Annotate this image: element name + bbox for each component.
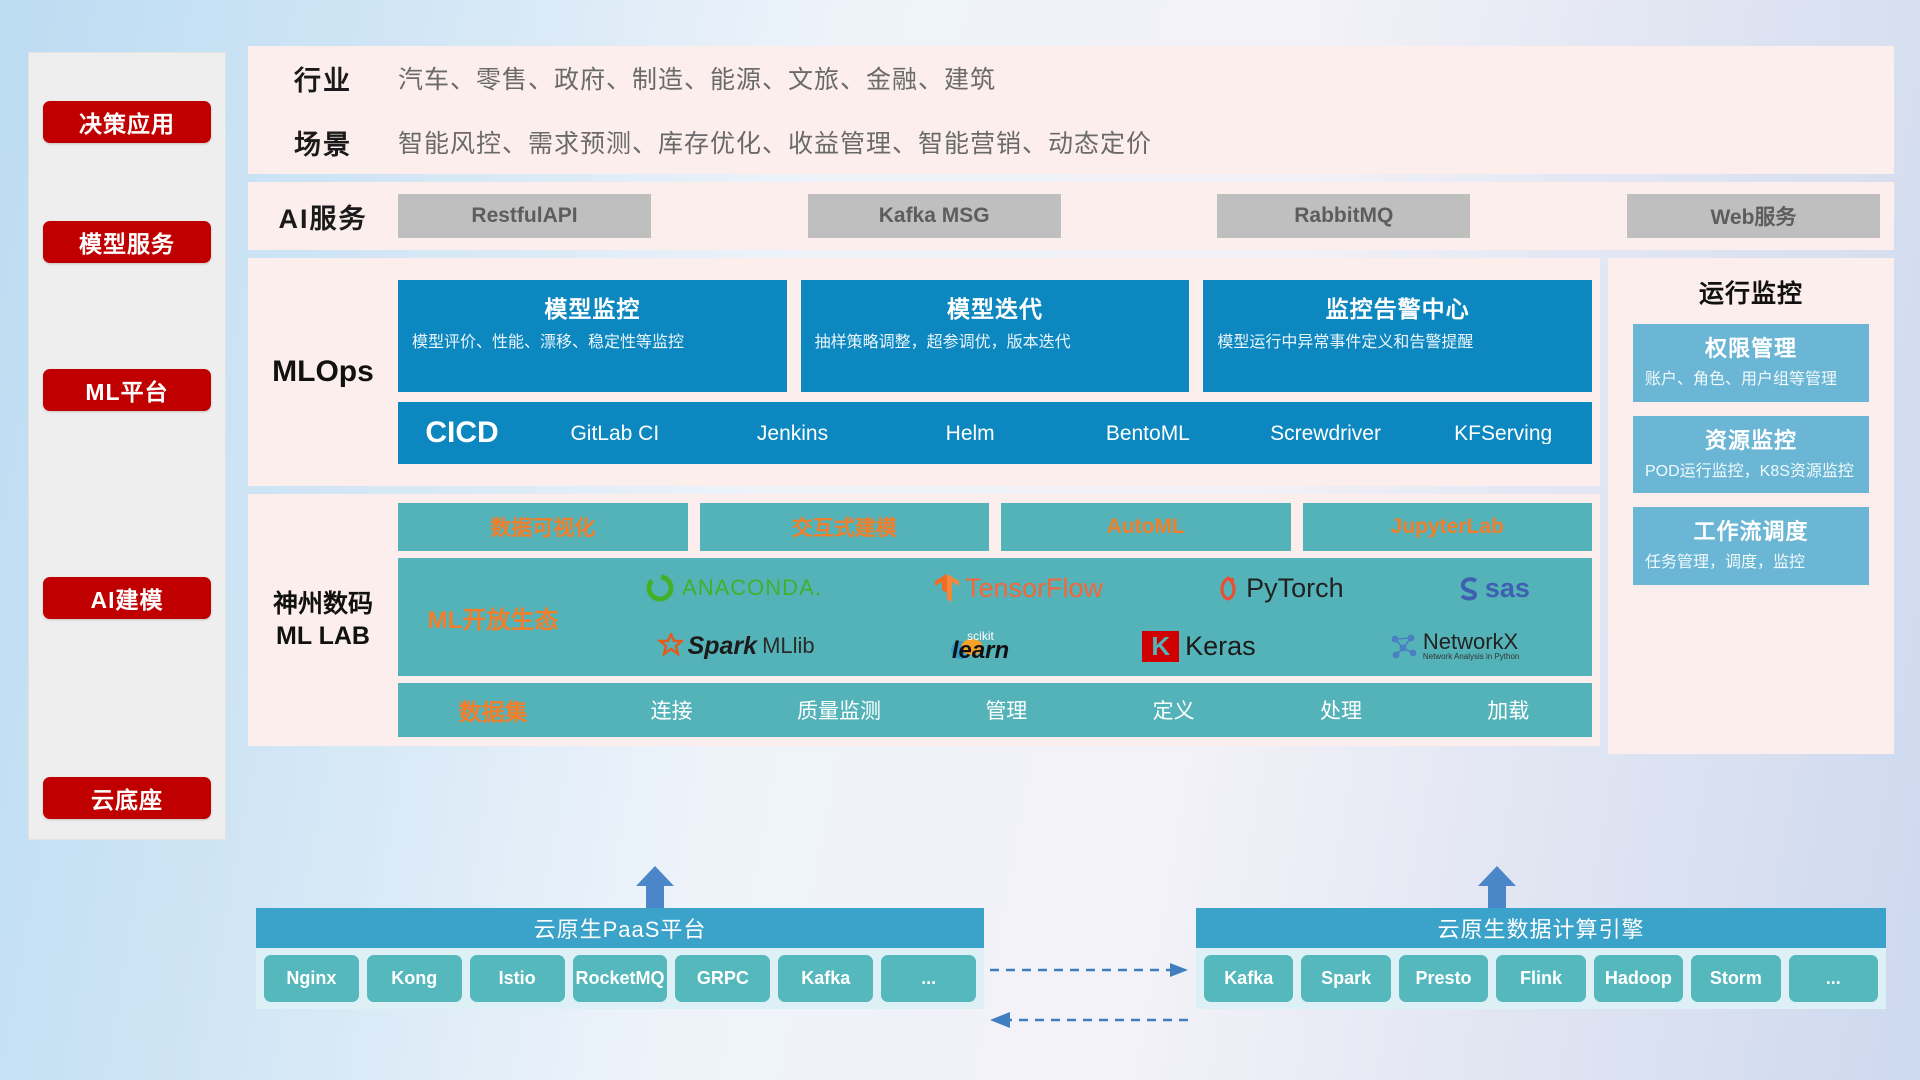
- networkx-tagline: Network Analysis in Python: [1423, 653, 1520, 661]
- paas-chip-istio[interactable]: Istio: [470, 955, 565, 1002]
- card-title: 监控告警中心: [1217, 290, 1578, 324]
- pytorch-wordmark: PyTorch: [1246, 573, 1344, 604]
- logo-row-2: Spark MLlib scikit learn: [588, 618, 1586, 674]
- engine-chip-presto[interactable]: Presto: [1399, 955, 1488, 1002]
- platform-column: MLOps 模型监控 模型评价、性能、漂移、稳定性等监控 模型迭代 抽样策略调整…: [248, 258, 1600, 754]
- scenario-key-industry: 行业: [248, 59, 398, 98]
- modeling-band: 神州数码 ML LAB 数据可视化 交互式建模 AutoML JupyterLa…: [248, 494, 1600, 746]
- cicd-label: KFServing: [1454, 423, 1552, 444]
- cicd-label: Screwdriver: [1270, 423, 1381, 444]
- main-stack: 行业 汽车、零售、政府、制造、能源、文旅、金融、建筑 场景 智能风控、需求预测、…: [248, 46, 1894, 754]
- dataset-item-define[interactable]: 定义: [1090, 695, 1257, 725]
- networkx-wordmark: NetworkX: [1423, 631, 1520, 653]
- chip-label: GRPC: [697, 969, 749, 988]
- dataset-item-connect[interactable]: 连接: [588, 695, 755, 725]
- mllib-wordmark: MLlib: [762, 633, 815, 659]
- paas-chip-more[interactable]: ...: [881, 955, 976, 1002]
- tool-label: 数据可视化: [490, 512, 595, 542]
- cicd-title: CICD: [398, 416, 526, 450]
- paas-chip-rocketmq[interactable]: RocketMQ: [573, 955, 668, 1002]
- chip-label: Hadoop: [1605, 969, 1672, 988]
- cicd-label: Jenkins: [757, 423, 828, 444]
- chip-label: Kong: [391, 969, 437, 988]
- card-title: 资源监控: [1645, 423, 1857, 455]
- middle-region: MLOps 模型监控 模型评价、性能、漂移、稳定性等监控 模型迭代 抽样策略调整…: [248, 258, 1894, 754]
- chip-label: Presto: [1416, 969, 1472, 988]
- card-desc: 抽样策略调整，超参调优，版本迭代: [815, 332, 1176, 354]
- anaconda-logo: ANACONDA.: [644, 572, 822, 604]
- engine-chip-kafka[interactable]: Kafka: [1204, 955, 1293, 1002]
- card-title: 权限管理: [1645, 331, 1857, 363]
- chip-label: RocketMQ: [576, 969, 665, 988]
- dataset-item-label: 质量监测: [797, 700, 881, 723]
- sas-wordmark: sas: [1485, 573, 1530, 604]
- modeling-label-line1: 神州数码: [248, 588, 398, 621]
- rail-item-1[interactable]: 模型服务: [43, 221, 211, 263]
- cicd-label: BentoML: [1106, 423, 1190, 444]
- chip-label: RabbitMQ: [1294, 204, 1393, 228]
- learn-word: learn: [952, 641, 1009, 661]
- chip-label: Web服务: [1710, 201, 1796, 231]
- engine-group: 云原生数据计算引擎 Kafka Spark Presto Flink Hadoo…: [1196, 908, 1886, 1009]
- cicd-item-jenkins[interactable]: Jenkins: [704, 423, 882, 444]
- rail-label: ML平台: [85, 373, 168, 407]
- engine-chip-more[interactable]: ...: [1789, 955, 1878, 1002]
- paas-chip-kafka[interactable]: Kafka: [778, 955, 873, 1002]
- cicd-bar: CICD GitLab CI Jenkins Helm BentoML Scre…: [398, 402, 1592, 464]
- card-title: 工作流调度: [1645, 514, 1857, 546]
- rail-label: 决策应用: [79, 105, 175, 139]
- card-desc: 模型运行中异常事件定义和告警提醒: [1217, 332, 1578, 354]
- runtime-monitor-panel: 运行监控 权限管理 账户、角色、用户组等管理 资源监控 POD运行监控，K8S资…: [1608, 258, 1894, 754]
- cicd-item-bentoml[interactable]: BentoML: [1059, 423, 1237, 444]
- paas-chip-kong[interactable]: Kong: [367, 955, 462, 1002]
- keras-wordmark: Keras: [1185, 631, 1256, 662]
- paas-chip-grpc[interactable]: GRPC: [675, 955, 770, 1002]
- cicd-item-screwdriver[interactable]: Screwdriver: [1237, 423, 1415, 444]
- cicd-item-kfserving[interactable]: KFServing: [1414, 423, 1592, 444]
- logo-row-1: ANACONDA. TensorFlow PyT: [588, 560, 1586, 616]
- tensorflow-logo: TensorFlow: [934, 573, 1103, 604]
- card-title: 模型迭代: [815, 290, 1176, 324]
- card-desc: POD运行监控，K8S资源监控: [1645, 461, 1857, 483]
- chip-label: Kafka: [1224, 969, 1273, 988]
- modeling-label: 神州数码 ML LAB: [248, 588, 398, 653]
- dataset-label: 数据集: [398, 693, 588, 727]
- ml-ecosystem-label: ML开放生态: [398, 600, 588, 635]
- spark-mllib-logo: Spark MLlib: [655, 632, 815, 661]
- bidirectional-dashed-arrows: [990, 960, 1190, 1034]
- chip-label: Spark: [1321, 969, 1371, 988]
- scenario-row-industry: 行业 汽车、零售、政府、制造、能源、文旅、金融、建筑: [248, 46, 1894, 110]
- ai-service-chip-kafka-msg[interactable]: Kafka MSG: [808, 194, 1061, 238]
- dataset-item-manage[interactable]: 管理: [923, 695, 1090, 725]
- engine-chip-spark[interactable]: Spark: [1301, 955, 1390, 1002]
- chip-label: ...: [1826, 969, 1841, 988]
- ai-service-chip-web[interactable]: Web服务: [1627, 194, 1880, 238]
- dataset-item-label: 处理: [1320, 700, 1362, 723]
- engine-chip-storm[interactable]: Storm: [1691, 955, 1780, 1002]
- runtime-monitor-title: 运行监控: [1699, 274, 1803, 310]
- chip-label: Istio: [499, 969, 536, 988]
- dataset-row: 数据集 连接 质量监测 管理 定义 处理 加载: [398, 683, 1592, 737]
- dataset-item-quality[interactable]: 质量监测: [755, 695, 922, 725]
- scenario-value-industry: 汽车、零售、政府、制造、能源、文旅、金融、建筑: [398, 60, 996, 96]
- paas-up-arrow-icon: [636, 866, 674, 910]
- dataset-item-label: 加载: [1487, 700, 1529, 723]
- cicd-label: GitLab CI: [570, 423, 659, 444]
- tool-chip-data-visualization[interactable]: 数据可视化: [398, 503, 688, 551]
- rail-label: 云底座: [91, 781, 163, 815]
- tool-label: AutoML: [1107, 515, 1185, 539]
- chip-label: Storm: [1710, 969, 1762, 988]
- rail-label: 模型服务: [79, 225, 175, 259]
- ai-service-band: AI服务 RestfulAPI Kafka MSG RabbitMQ Web服务: [248, 182, 1894, 250]
- networkx-logo: NetworkX Network Analysis in Python: [1389, 631, 1520, 661]
- cicd-item-gitlab-ci[interactable]: GitLab CI: [526, 423, 704, 444]
- chip-label: Kafka: [801, 969, 850, 988]
- dataset-item-load[interactable]: 加载: [1425, 695, 1592, 725]
- cicd-label: Helm: [946, 423, 995, 444]
- chip-label: RestfulAPI: [471, 204, 577, 228]
- tensorflow-wordmark: TensorFlow: [965, 573, 1103, 604]
- keras-mark: K: [1142, 631, 1179, 662]
- scenario-row-usecase: 场景 智能风控、需求预测、库存优化、收益管理、智能营销、动态定价: [248, 110, 1894, 174]
- dataset-item-process[interactable]: 处理: [1257, 695, 1424, 725]
- ai-service-chip-restfulapi[interactable]: RestfulAPI: [398, 194, 651, 238]
- ai-service-chip-rabbitmq[interactable]: RabbitMQ: [1217, 194, 1470, 238]
- pytorch-logo: PyTorch: [1215, 573, 1344, 604]
- card-title: 模型监控: [412, 290, 773, 324]
- scikit-learn-logo: scikit learn: [948, 631, 1009, 662]
- chip-label: Flink: [1520, 969, 1562, 988]
- keras-logo: K Keras: [1142, 631, 1255, 662]
- cicd-item-helm[interactable]: Helm: [881, 423, 1059, 444]
- rail-item-2[interactable]: ML平台: [43, 369, 211, 411]
- rail-item-0[interactable]: 决策应用: [43, 101, 211, 143]
- chip-label: Nginx: [286, 969, 336, 988]
- dataset-item-label: 连接: [651, 700, 693, 723]
- chip-label: ...: [921, 969, 936, 988]
- engine-up-arrow-icon: [1478, 866, 1516, 910]
- card-desc: 模型评价、性能、漂移、稳定性等监控: [412, 332, 773, 354]
- dataset-item-label: 管理: [985, 700, 1027, 723]
- tool-chip-jupyterlab[interactable]: JupyterLab: [1303, 503, 1593, 551]
- rail-label: AI建模: [91, 581, 164, 615]
- tool-label: JupyterLab: [1391, 515, 1504, 539]
- card-desc: 账户、角色、用户组等管理: [1645, 369, 1857, 391]
- monitor-card-workflow[interactable]: 工作流调度 任务管理，调度，监控: [1633, 507, 1869, 585]
- scenario-value-usecase: 智能风控、需求预测、库存优化、收益管理、智能营销、动态定价: [398, 124, 1152, 160]
- engine-chip-hadoop[interactable]: Hadoop: [1594, 955, 1683, 1002]
- tool-label: 交互式建模: [792, 512, 897, 542]
- tool-chip-automl[interactable]: AutoML: [1001, 503, 1291, 551]
- paas-chip-nginx[interactable]: Nginx: [264, 955, 359, 1002]
- scenario-key-usecase: 场景: [248, 123, 398, 162]
- monitor-card-resources[interactable]: 资源监控 POD运行监控，K8S资源监控: [1633, 416, 1869, 494]
- card-desc: 任务管理，调度，监控: [1645, 552, 1857, 574]
- anaconda-wordmark: ANACONDA.: [682, 575, 822, 601]
- mlops-card-model-iteration[interactable]: 模型迭代 抽样策略调整，超参调优，版本迭代: [801, 280, 1190, 392]
- paas-group: 云原生PaaS平台 Nginx Kong Istio RocketMQ GRPC…: [256, 908, 984, 1009]
- chip-label: Kafka MSG: [879, 204, 990, 228]
- rail-item-4[interactable]: 云底座: [43, 777, 211, 819]
- spark-wordmark: Spark: [688, 632, 757, 661]
- modeling-label-line2: ML LAB: [248, 620, 398, 653]
- mlops-band: MLOps 模型监控 模型评价、性能、漂移、稳定性等监控 模型迭代 抽样策略调整…: [248, 258, 1600, 486]
- mlops-label: MLOps: [248, 355, 398, 389]
- engine-chip-flink[interactable]: Flink: [1496, 955, 1585, 1002]
- mlops-card-model-monitoring[interactable]: 模型监控 模型评价、性能、漂移、稳定性等监控: [398, 280, 787, 392]
- left-layer-rail: 决策应用 模型服务 ML平台 AI建模 云底座: [28, 52, 226, 840]
- ai-service-label: AI服务: [248, 197, 398, 236]
- rail-item-3[interactable]: AI建模: [43, 577, 211, 619]
- ml-ecosystem-panel: ML开放生态 ANACONDA.: [398, 558, 1592, 676]
- scenario-band: 行业 汽车、零售、政府、制造、能源、文旅、金融、建筑 场景 智能风控、需求预测、…: [248, 46, 1894, 174]
- cloud-foundation-region: 云原生PaaS平台 Nginx Kong Istio RocketMQ GRPC…: [248, 866, 1894, 1056]
- paas-title: 云原生PaaS平台: [256, 908, 984, 948]
- engine-title: 云原生数据计算引擎: [1196, 908, 1886, 948]
- mlops-card-alert-center[interactable]: 监控告警中心 模型运行中异常事件定义和告警提醒: [1203, 280, 1592, 392]
- dataset-item-label: 定义: [1153, 700, 1195, 723]
- tool-chip-interactive-modeling[interactable]: 交互式建模: [700, 503, 990, 551]
- sas-logo: sas: [1456, 573, 1530, 604]
- monitor-card-permissions[interactable]: 权限管理 账户、角色、用户组等管理: [1633, 324, 1869, 402]
